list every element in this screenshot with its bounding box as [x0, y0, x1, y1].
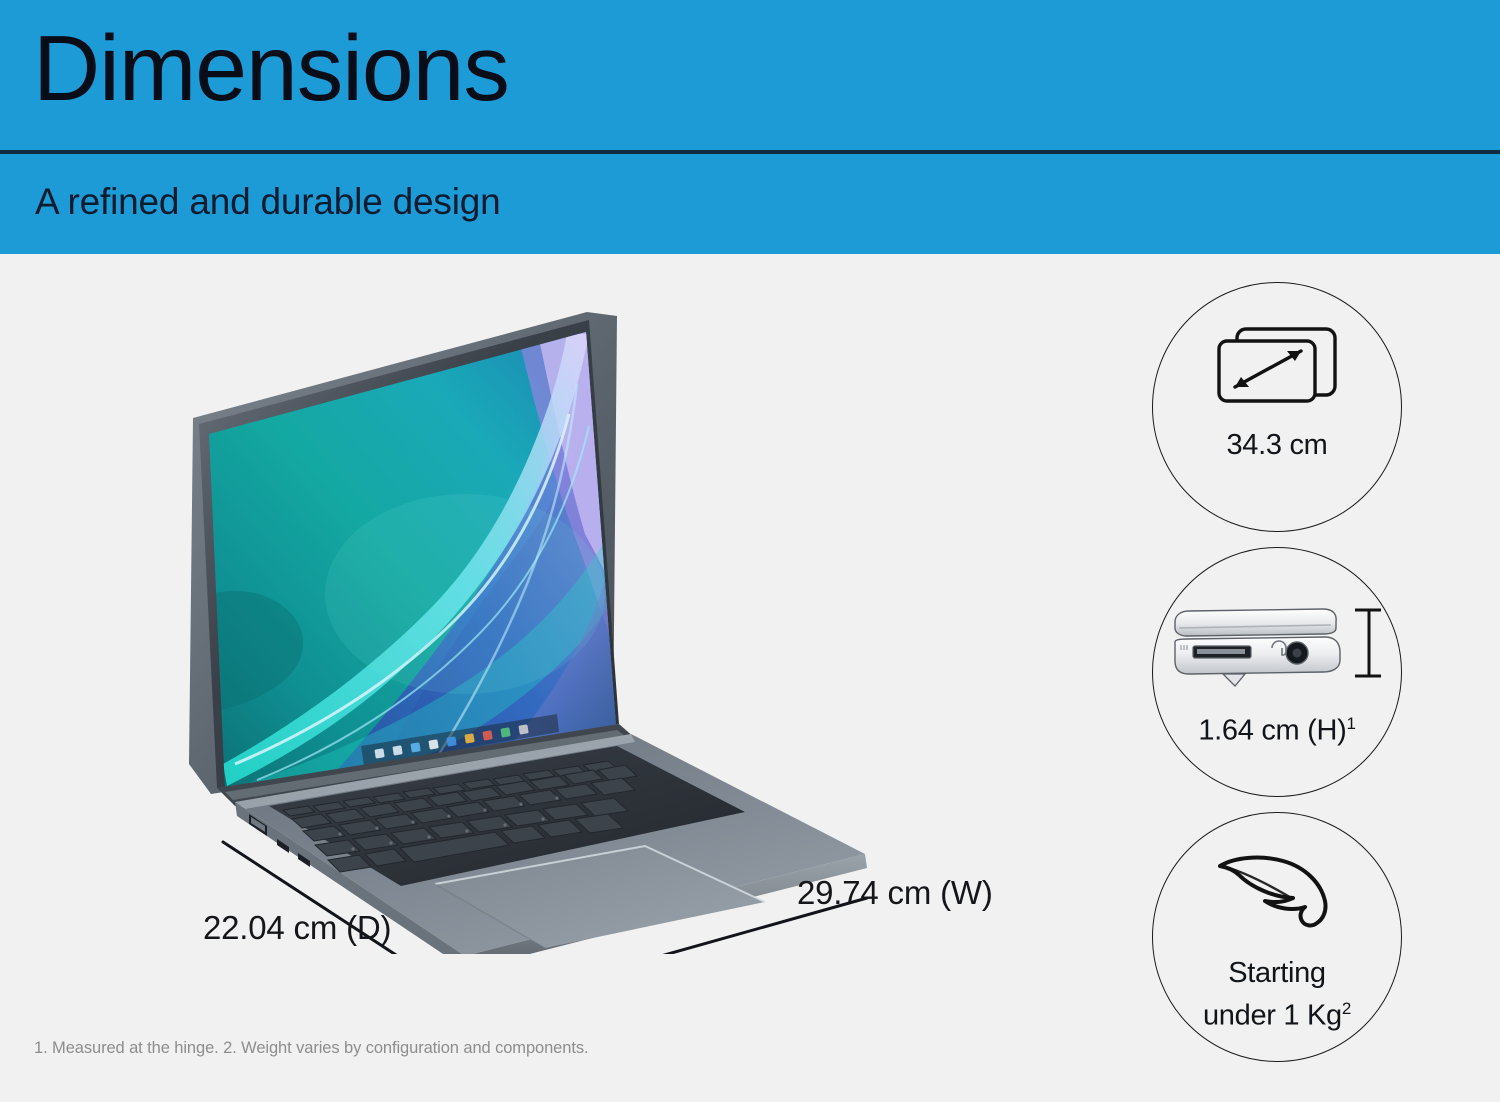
weight-label: Startingunder 1 Kg2 [1167, 955, 1387, 1034]
depth-dimension-label: 22.04 cm (D) [203, 909, 391, 947]
dimensions-infographic: Dimensions A refined and durable design [0, 0, 1500, 1102]
feature-callouts: 34.3 cm [1152, 282, 1402, 1072]
page-subtitle: A refined and durable design [35, 178, 500, 226]
screen-diagonal-icon [1215, 325, 1339, 405]
weight-line-1: Starting [1228, 957, 1326, 989]
feature-circle-weight: Startingunder 1 Kg2 [1152, 812, 1402, 1062]
feature-circle-height: 1.64 cm (H)1 [1152, 547, 1402, 797]
content-area: 22.04 cm (D) 29.74 cm (W) 1. Measured at… [0, 254, 1500, 1102]
height-label: 1.64 cm (H)1 [1198, 706, 1355, 749]
footnote-text: 1. Measured at the hinge. 2. Weight vari… [34, 1039, 588, 1058]
width-dimension-label: 29.74 cm (W) [797, 874, 993, 912]
screen-size-label: 34.3 cm [1226, 427, 1327, 463]
header-banner: Dimensions A refined and durable design [0, 0, 1500, 254]
height-footnote-marker: 1 [1347, 714, 1356, 733]
height-value: 1.64 cm (H) [1198, 715, 1346, 747]
page-title: Dimensions [33, 10, 509, 126]
laptop-product-image [165, 294, 885, 954]
laptop-side-profile-icon [1173, 598, 1381, 690]
weight-footnote-marker: 2 [1342, 999, 1351, 1018]
feature-circle-screen-size: 34.3 cm [1152, 282, 1402, 532]
weight-line-2: under 1 Kg [1203, 1000, 1342, 1032]
feather-icon [1213, 853, 1341, 937]
header-divider [0, 150, 1500, 154]
